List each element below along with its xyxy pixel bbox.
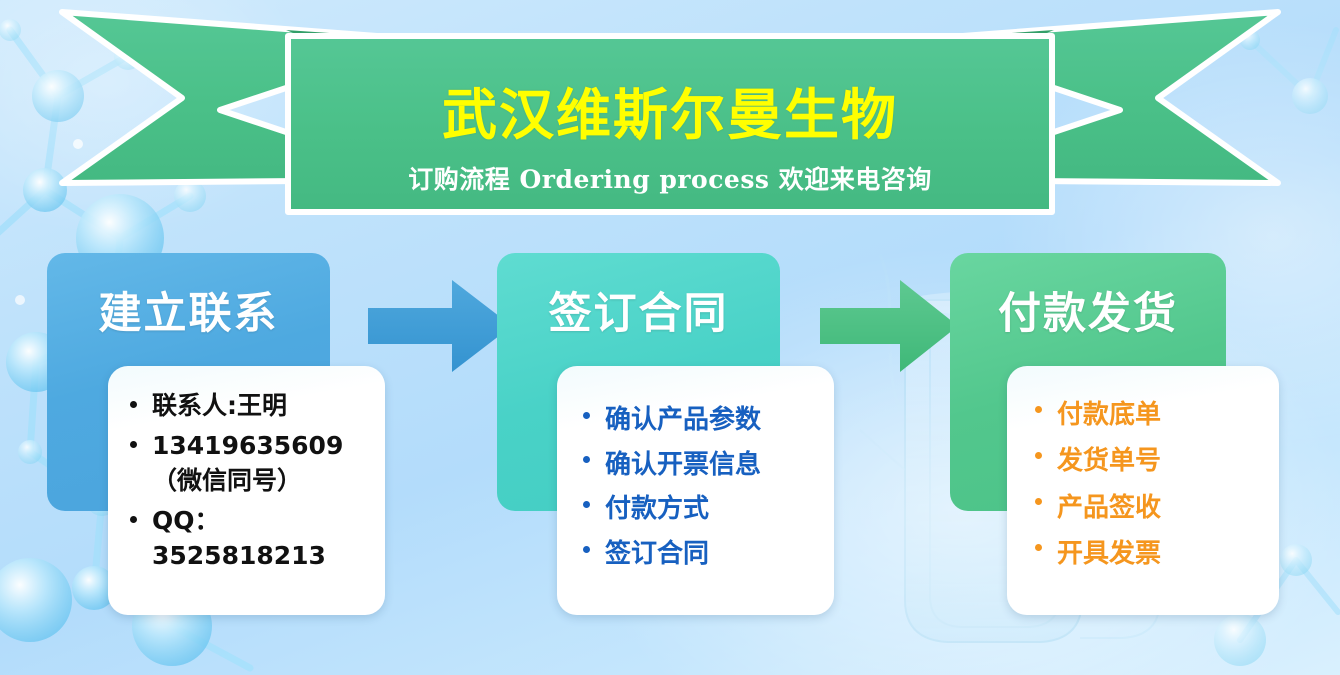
step-3-item-2: 产品签收 (1057, 493, 1161, 523)
list-item: 付款方式 (575, 487, 826, 532)
step-1-title: 建立联系 (47, 279, 330, 341)
company-title: 武汉维斯尔曼生物 (0, 70, 1340, 150)
list-item: 产品签收 (1027, 485, 1271, 531)
list-item: 发货单号 (1027, 438, 1271, 484)
list-item: 确认开票信息 (575, 443, 826, 488)
step-1-item-1: 13419635609 (152, 431, 343, 460)
step-2-item-2: 付款方式 (605, 494, 709, 524)
step-3-item-1: 发货单号 (1057, 446, 1161, 476)
header-ribbon: 武汉维斯尔曼生物 订购流程 Ordering process 欢迎来电咨询 (0, 0, 1340, 232)
step-1-list: 联系人:王明 13419635609 （微信同号） QQ： 3525818213 (108, 366, 385, 574)
step-3-detail-card: 付款底单 发货单号 产品签收 开具发票 (1007, 366, 1279, 615)
step-3-list: 付款底单 发货单号 产品签收 开具发票 (1007, 366, 1279, 577)
banner-subtitle: 订购流程 Ordering process 欢迎来电咨询 (0, 160, 1340, 196)
list-item: 确认产品参数 (575, 398, 826, 443)
arrow-step2-to-step3-icon (818, 278, 960, 374)
step-1-item-2: QQ： (152, 506, 220, 535)
step-3-item-0: 付款底单 (1057, 400, 1161, 430)
list-item: 付款底单 (1027, 392, 1271, 438)
list-item: QQ： 3525818213 (122, 503, 377, 574)
step-3-title: 付款发货 (950, 279, 1226, 341)
step-2-item-0: 确认产品参数 (605, 405, 761, 435)
step-2-item-3: 签订合同 (605, 539, 709, 569)
step-1-detail-card: 联系人:王明 13419635609 （微信同号） QQ： 3525818213 (108, 366, 385, 615)
step-2-title: 签订合同 (497, 279, 780, 341)
banner-subtitle-cn2: 欢迎来电咨询 (779, 165, 932, 194)
list-item: 联系人:王明 (122, 388, 377, 424)
step-2-item-1: 确认开票信息 (605, 450, 761, 480)
list-item: 开具发票 (1027, 531, 1271, 577)
banner-subtitle-cn: 订购流程 (408, 165, 510, 194)
list-item: 13419635609 （微信同号） (122, 428, 377, 499)
banner-subtitle-en: Ordering process (520, 165, 770, 194)
step-1-item-0: 联系人:王明 (152, 391, 287, 420)
step-1-item-1-sub: （微信同号） (152, 463, 377, 499)
step-2-list: 确认产品参数 确认开票信息 付款方式 签订合同 (557, 366, 834, 577)
step-2-detail-card: 确认产品参数 确认开票信息 付款方式 签订合同 (557, 366, 834, 615)
arrow-step1-to-step2-icon (366, 278, 514, 374)
list-item: 签订合同 (575, 532, 826, 577)
poster-canvas: 武汉维斯尔曼生物 订购流程 Ordering process 欢迎来电咨询 建立… (0, 0, 1340, 675)
step-1-item-2-sub: 3525818213 (152, 538, 377, 574)
step-3-item-3: 开具发票 (1057, 539, 1161, 569)
